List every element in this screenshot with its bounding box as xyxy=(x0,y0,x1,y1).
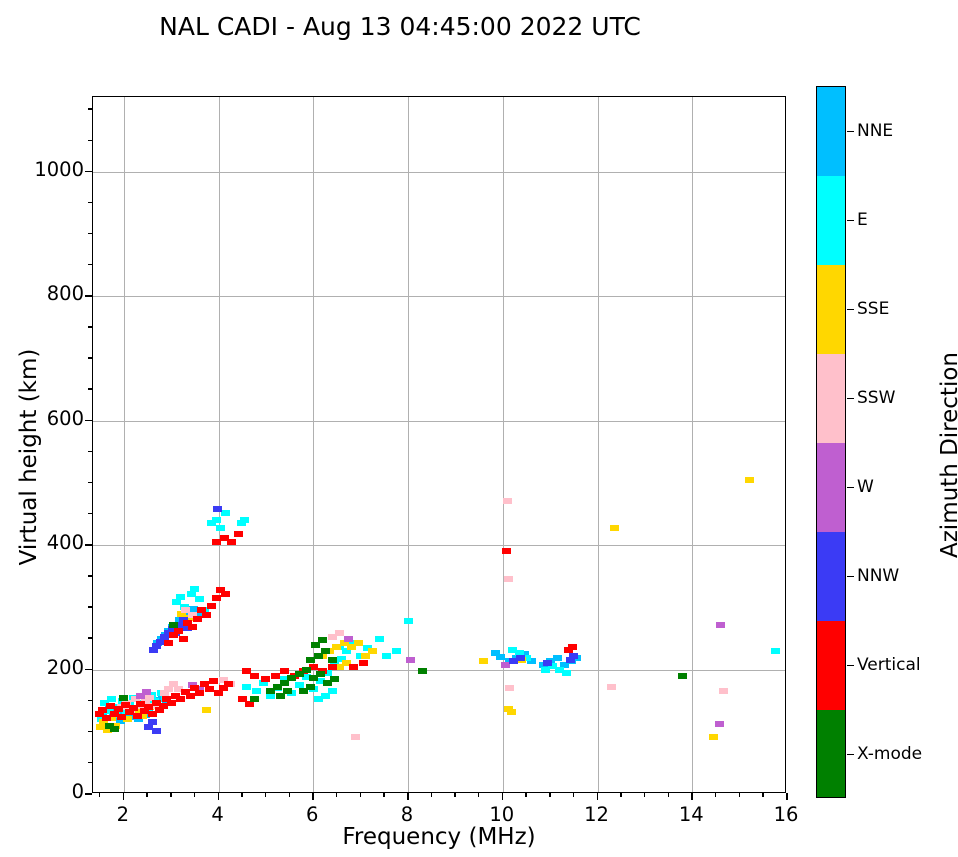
x-tick-minor xyxy=(336,793,337,797)
colorbar-tick xyxy=(847,220,854,222)
y-tick-label: 800 xyxy=(47,282,84,305)
x-tick-minor xyxy=(525,793,526,797)
x-tick-label: 4 xyxy=(211,803,223,826)
data-mark xyxy=(221,510,230,516)
colorbar-label-nne: NNE xyxy=(857,121,893,141)
x-tick-minor xyxy=(762,793,763,797)
x-tick-minor xyxy=(668,793,669,797)
data-mark xyxy=(502,548,511,554)
data-mark xyxy=(190,586,199,592)
data-mark xyxy=(271,673,280,679)
data-mark xyxy=(328,657,337,663)
y-tick-minor xyxy=(88,606,92,607)
colorbar-segment-ssw[interactable] xyxy=(817,354,845,443)
data-mark xyxy=(261,676,270,682)
ionogram-figure: NAL CADI - Aug 13 04:45:00 2022 UTC 0200… xyxy=(0,0,958,857)
colorbar-segment-nnw[interactable] xyxy=(817,532,845,621)
colorbar-tick xyxy=(847,131,854,133)
data-mark xyxy=(404,618,413,624)
x-tick-label: 6 xyxy=(306,803,318,826)
data-mark xyxy=(719,688,728,694)
x-tick-minor xyxy=(573,793,574,797)
x-tick-minor xyxy=(431,793,432,797)
data-mark xyxy=(568,644,577,650)
y-tick-minor xyxy=(88,233,92,234)
y-tick xyxy=(85,295,92,297)
x-tick-label: 10 xyxy=(489,803,514,826)
x-tick-minor xyxy=(620,793,621,797)
data-mark xyxy=(283,688,292,694)
x-tick-label: 16 xyxy=(774,803,799,826)
colorbar-segment-e[interactable] xyxy=(817,176,845,265)
x-tick-minor xyxy=(265,793,266,797)
data-mark xyxy=(505,685,514,691)
data-mark xyxy=(250,696,259,702)
data-mark xyxy=(771,648,780,654)
data-mark xyxy=(176,696,185,702)
x-tick-label: 2 xyxy=(117,803,129,826)
colorbar-segment-w[interactable] xyxy=(817,443,845,532)
data-mark xyxy=(240,517,249,523)
gridline-vertical xyxy=(598,97,599,792)
data-mark xyxy=(295,682,304,688)
plot-area[interactable] xyxy=(92,96,786,793)
gridline-horizontal xyxy=(93,545,785,546)
colorbar-segment-sse[interactable] xyxy=(817,265,845,354)
colorbar-tick xyxy=(847,665,854,667)
data-mark xyxy=(306,684,315,690)
data-mark xyxy=(562,670,571,676)
colorbar-label-nnw: NNW xyxy=(857,566,899,586)
data-mark xyxy=(224,681,233,687)
data-mark xyxy=(216,525,225,531)
data-mark xyxy=(195,690,204,696)
y-tick-minor xyxy=(88,451,92,452)
data-mark xyxy=(503,498,512,504)
data-mark xyxy=(252,688,261,694)
x-tick xyxy=(691,793,693,800)
data-mark xyxy=(119,695,128,701)
data-mark xyxy=(504,576,513,582)
x-tick-minor xyxy=(194,793,195,797)
x-tick-minor xyxy=(241,793,242,797)
gridline-vertical xyxy=(408,97,409,792)
colorbar-segment-nne[interactable] xyxy=(817,87,845,176)
data-mark xyxy=(169,622,178,628)
y-tick-minor xyxy=(88,388,92,389)
x-tick-label: 12 xyxy=(584,803,609,826)
colorbar-tick xyxy=(847,754,854,756)
x-tick-label: 8 xyxy=(401,803,413,826)
colorbar-title: Azimuth Direction xyxy=(937,295,958,615)
data-mark xyxy=(152,728,161,734)
data-mark xyxy=(205,686,214,692)
data-mark xyxy=(328,688,337,694)
data-mark xyxy=(174,628,183,634)
data-mark xyxy=(368,648,377,654)
data-mark xyxy=(406,657,415,663)
x-tick-minor xyxy=(454,793,455,797)
data-mark xyxy=(142,689,151,695)
data-mark xyxy=(213,506,222,512)
data-mark xyxy=(328,664,337,670)
data-mark xyxy=(110,726,119,732)
data-mark xyxy=(392,648,401,654)
y-tick-minor xyxy=(88,264,92,265)
data-mark xyxy=(212,517,221,523)
data-mark xyxy=(678,673,687,679)
x-tick xyxy=(407,793,409,800)
data-mark xyxy=(280,668,289,674)
y-tick xyxy=(85,420,92,422)
data-mark xyxy=(349,664,358,670)
gridline-horizontal xyxy=(93,172,785,173)
data-mark xyxy=(610,525,619,531)
gridline-horizontal xyxy=(93,421,785,422)
data-mark xyxy=(207,603,216,609)
data-mark xyxy=(202,612,211,618)
data-mark xyxy=(250,673,259,679)
data-mark xyxy=(179,636,188,642)
x-tick xyxy=(502,793,504,800)
colorbar-tick xyxy=(847,309,854,311)
x-tick xyxy=(786,793,788,800)
x-tick-label: 14 xyxy=(679,803,704,826)
data-mark xyxy=(745,477,754,483)
data-mark xyxy=(569,653,578,659)
y-tick-minor xyxy=(88,575,92,576)
data-mark xyxy=(107,696,116,702)
data-mark xyxy=(354,640,363,646)
data-mark xyxy=(607,684,616,690)
data-mark xyxy=(221,591,230,597)
y-tick xyxy=(85,793,92,795)
x-tick-minor xyxy=(170,793,171,797)
y-tick-label: 200 xyxy=(47,656,84,679)
data-mark xyxy=(302,667,311,673)
y-tick xyxy=(85,544,92,546)
colorbar-segment-vertical[interactable] xyxy=(817,621,845,710)
y-tick-label: 0 xyxy=(72,780,84,803)
y-tick-label: 600 xyxy=(47,407,84,430)
colorbar-label-w: W xyxy=(857,477,874,497)
gridline-horizontal xyxy=(93,670,785,671)
y-tick-label: 400 xyxy=(47,531,84,554)
data-mark xyxy=(516,655,525,661)
data-mark xyxy=(242,684,251,690)
colorbar-label-sse: SSE xyxy=(857,299,889,319)
x-tick-minor xyxy=(383,793,384,797)
y-tick-minor xyxy=(88,357,92,358)
x-tick xyxy=(597,793,599,800)
data-mark xyxy=(344,636,353,642)
data-mark xyxy=(318,637,327,643)
x-tick-minor xyxy=(644,793,645,797)
x-tick-minor xyxy=(99,793,100,797)
data-mark xyxy=(543,660,552,666)
data-mark xyxy=(164,640,173,646)
data-mark xyxy=(316,671,325,677)
x-tick xyxy=(218,793,220,800)
data-mark xyxy=(335,630,344,636)
colorbar-tick xyxy=(847,487,854,489)
gridline-vertical xyxy=(124,97,125,792)
y-tick-minor xyxy=(88,637,92,638)
data-mark xyxy=(479,658,488,664)
colorbar-tick xyxy=(847,398,854,400)
x-axis-title: Frequency (MHz) xyxy=(92,824,786,850)
data-mark xyxy=(491,650,500,656)
y-tick xyxy=(85,171,92,173)
data-mark xyxy=(553,655,562,661)
data-mark xyxy=(716,622,725,628)
gridline-horizontal xyxy=(93,296,785,297)
y-tick-label: 1000 xyxy=(34,158,84,181)
azimuth-colorbar[interactable] xyxy=(816,86,846,798)
colorbar-label-vertical: Vertical xyxy=(857,655,921,675)
x-tick xyxy=(123,793,125,800)
x-tick-minor xyxy=(360,793,361,797)
colorbar-label-ssw: SSW xyxy=(857,388,895,408)
data-mark xyxy=(715,721,724,727)
x-tick-minor xyxy=(478,793,479,797)
x-tick-minor xyxy=(549,793,550,797)
y-tick-minor xyxy=(88,700,92,701)
y-axis-title: Virtual height (km) xyxy=(16,307,42,607)
y-tick xyxy=(85,669,92,671)
data-mark xyxy=(234,531,243,537)
y-tick-minor xyxy=(88,140,92,141)
x-tick-minor xyxy=(289,793,290,797)
gridline-vertical xyxy=(692,97,693,792)
y-tick-minor xyxy=(88,731,92,732)
data-mark xyxy=(202,707,211,713)
data-mark xyxy=(195,596,204,602)
data-mark xyxy=(359,660,368,666)
data-mark xyxy=(227,539,236,545)
colorbar-label-e: E xyxy=(857,210,868,230)
y-tick-minor xyxy=(88,513,92,514)
gridline-vertical xyxy=(503,97,504,792)
data-mark xyxy=(188,624,197,630)
x-tick xyxy=(312,793,314,800)
y-tick-minor xyxy=(88,108,92,109)
colorbar-tick xyxy=(847,576,854,578)
page-title: NAL CADI - Aug 13 04:45:00 2022 UTC xyxy=(0,12,800,41)
data-mark xyxy=(321,648,330,654)
data-mark xyxy=(351,734,360,740)
data-mark xyxy=(375,636,384,642)
data-mark xyxy=(176,594,185,600)
data-mark xyxy=(186,693,195,699)
y-tick-minor xyxy=(88,762,92,763)
data-mark xyxy=(330,676,339,682)
y-tick-minor xyxy=(88,202,92,203)
data-mark xyxy=(382,653,391,659)
data-mark xyxy=(212,595,221,601)
y-tick-minor xyxy=(88,482,92,483)
y-tick-minor xyxy=(88,326,92,327)
data-mark xyxy=(193,616,202,622)
data-mark xyxy=(209,678,218,684)
x-tick-minor xyxy=(715,793,716,797)
colorbar-label-x-mode: X-mode xyxy=(857,744,922,764)
colorbar-segment-x-mode[interactable] xyxy=(817,710,845,798)
x-tick-minor xyxy=(146,793,147,797)
data-mark xyxy=(507,709,516,715)
data-mark xyxy=(418,668,427,674)
data-mark xyxy=(709,734,718,740)
data-mark xyxy=(167,700,176,706)
data-mark xyxy=(148,719,157,725)
x-tick-minor xyxy=(739,793,740,797)
